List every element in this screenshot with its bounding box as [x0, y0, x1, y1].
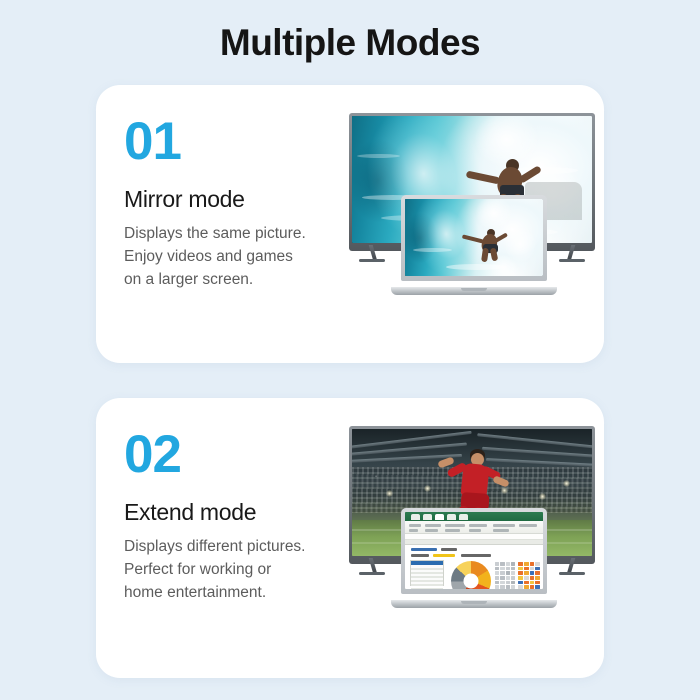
laptop-screen-02 — [405, 512, 543, 589]
card-01-product-image — [341, 107, 596, 297]
tv-foot-right-02 — [559, 572, 585, 575]
donut-chart — [451, 561, 491, 589]
laptop-base-01 — [391, 287, 557, 295]
card-02-body: Displays different pictures. Perfect for… — [124, 535, 354, 604]
laptop-lid-02 — [401, 508, 547, 594]
tv-foot-left-02 — [359, 572, 385, 575]
grey-cell-matrix — [495, 562, 515, 589]
spreadsheet-data-table — [410, 560, 444, 586]
laptop-01 — [401, 195, 547, 295]
card-02-product-image — [341, 420, 596, 610]
page-title: Multiple Modes — [0, 0, 700, 68]
laptop-lid-01 — [401, 195, 547, 281]
card-01-number: 01 — [124, 113, 354, 171]
mode-card-02[interactable]: 02 Extend mode Displays different pictur… — [96, 398, 604, 678]
colour-heatmap-matrix — [518, 562, 540, 589]
card-02-number: 02 — [124, 426, 354, 484]
card-02-text-block: 02 Extend mode Displays different pictur… — [124, 426, 354, 604]
card-01-text-block: 01 Mirror mode Displays the same picture… — [124, 113, 354, 291]
spreadsheet-ribbon — [405, 512, 543, 521]
surfer-figure-laptop — [460, 227, 515, 266]
scene-spreadsheet-dashboard — [405, 512, 543, 589]
spreadsheet-canvas — [405, 545, 543, 589]
spreadsheet-toolbar — [405, 521, 543, 534]
tv-foot-right-01 — [559, 259, 585, 262]
laptop-screen-01 — [405, 199, 543, 276]
scene-surfer-wave-laptop — [405, 199, 543, 276]
laptop-02 — [401, 508, 547, 608]
tv-foot-left-01 — [359, 259, 385, 262]
multiple-modes-page: Multiple Modes 01 Mirror mode Displays t… — [0, 0, 700, 700]
card-01-body: Displays the same picture. Enjoy videos … — [124, 222, 354, 291]
mode-card-01[interactable]: 01 Mirror mode Displays the same picture… — [96, 85, 604, 363]
laptop-base-02 — [391, 600, 557, 608]
card-01-heading: Mirror mode — [124, 185, 354, 213]
card-02-heading: Extend mode — [124, 498, 354, 526]
